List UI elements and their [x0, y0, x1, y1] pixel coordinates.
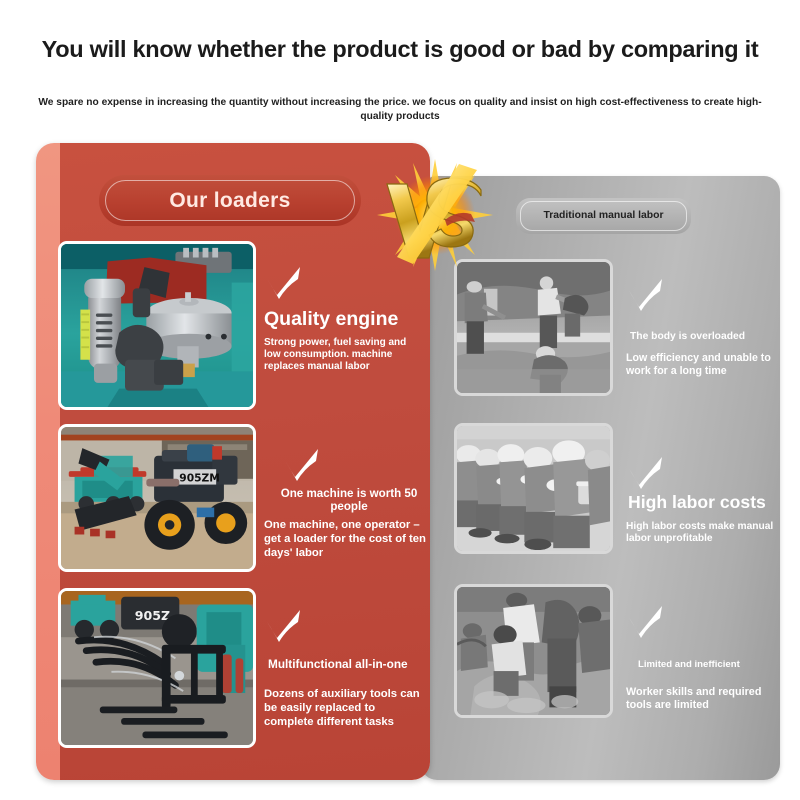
check-icon: [282, 447, 322, 483]
feature-body: One machine, one operator – get a loader…: [264, 519, 430, 560]
drawback-heading: The body is overloaded: [630, 331, 745, 343]
workers-in-mud-photo: [454, 584, 613, 718]
workers-eating-photo: [454, 423, 613, 554]
check-icon: [264, 608, 304, 644]
loader-engine-photo: [58, 241, 256, 410]
feature-heading: Quality engine: [264, 309, 398, 331]
feature-heading: One machine is worth 50 people: [274, 487, 424, 513]
traditional-labor-badge-label: Traditional manual labor: [537, 210, 669, 223]
feature-body: Dozens of auxiliary tools can be easily …: [264, 688, 426, 729]
drawback-body: High labor costs make manual labor unpro…: [626, 521, 776, 546]
feature-heading: Multifunctional all-in-one: [268, 658, 408, 671]
wheel-loader-photo: 905ZM: [58, 424, 256, 572]
drawback-body: Worker skills and required tools are lim…: [626, 686, 776, 712]
drawback-body: Low efficiency and unable to work for a …: [626, 352, 774, 378]
feature-body: Strong power, fuel saving and low consum…: [264, 337, 424, 374]
page-title: You will know whether the product is goo…: [0, 36, 800, 63]
svg-text:905Z: 905Z: [135, 608, 170, 623]
check-icon: [626, 604, 666, 640]
our-loaders-badge[interactable]: Our loaders: [99, 175, 361, 226]
drawback-heading: High labor costs: [628, 493, 766, 513]
svg-text:905ZM: 905ZM: [179, 472, 220, 485]
check-icon: [626, 455, 666, 491]
check-icon: [264, 265, 304, 301]
traditional-labor-badge[interactable]: Traditional manual labor: [516, 198, 691, 234]
page-subtitle: We spare no expense in increasing the qu…: [34, 96, 766, 124]
vs-icon: [373, 158, 497, 272]
manual-digging-photo: [454, 259, 613, 396]
comparison-infographic: You will know whether the product is goo…: [0, 0, 800, 800]
drawback-heading: Limited and inefficient: [638, 660, 740, 671]
check-icon: [626, 277, 666, 313]
loader-attachments-photo: 905Z: [58, 588, 256, 748]
our-loaders-badge-label: Our loaders: [169, 189, 290, 213]
